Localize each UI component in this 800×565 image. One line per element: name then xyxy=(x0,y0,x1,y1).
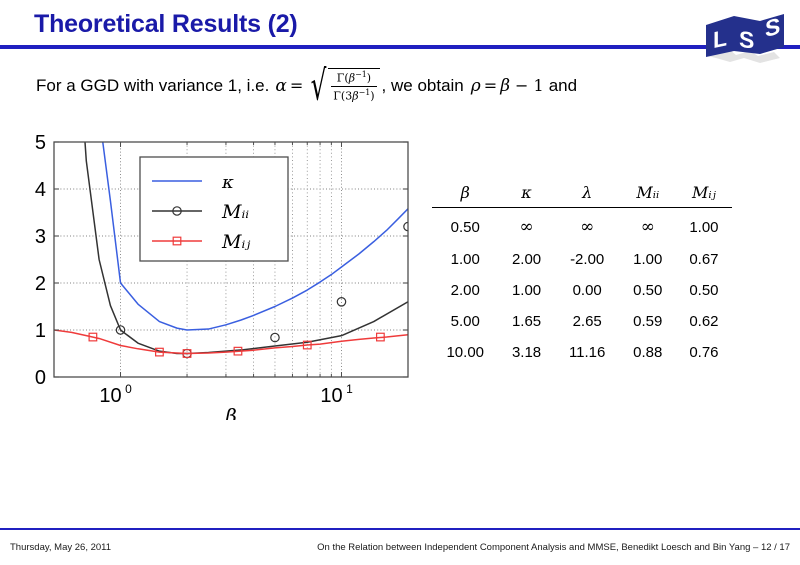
svg-text:L: L xyxy=(713,24,727,53)
table-cell: -2.00 xyxy=(555,244,620,275)
table-cell: ∞ xyxy=(620,208,676,245)
footer-divider xyxy=(0,528,800,530)
table-header-mii: Mᵢᵢ xyxy=(620,182,676,208)
table-cell: 0.50 xyxy=(620,275,676,306)
title-divider xyxy=(0,45,800,49)
x-tick-label: 100 xyxy=(99,382,132,407)
svg-text:1: 1 xyxy=(346,382,353,396)
y-tick-label: 1 xyxy=(35,320,46,342)
page-title: Theoretical Results (2) xyxy=(34,10,298,39)
table-cell: 0.88 xyxy=(620,337,676,368)
gamma-fraction: Γ(β−1) Γ(3β−1) xyxy=(331,70,376,104)
table-cell: ∞ xyxy=(498,208,554,245)
sqrt-expression: √ Γ(β−1) Γ(3β−1) xyxy=(308,68,379,104)
numerator-close-paren: ) xyxy=(367,72,371,85)
x-tick-label: 101 xyxy=(320,382,353,407)
table-cell: 0.00 xyxy=(555,275,620,306)
table-cell: 0.76 xyxy=(676,337,732,368)
series-M_ij xyxy=(54,330,408,357)
svg-text:10: 10 xyxy=(320,385,342,407)
table-cell: 1.00 xyxy=(620,244,676,275)
table-header-kappa: κ xyxy=(498,182,554,208)
series-line xyxy=(54,330,408,354)
svg-text:S: S xyxy=(765,13,780,42)
chart-legend: κMᵢᵢMᵢⱼ xyxy=(140,157,288,261)
sqrt-radical-icon: √ xyxy=(311,68,327,103)
sqrt-radicand: Γ(β−1) Γ(3β−1) xyxy=(328,68,379,104)
chart-y-tick-labels: 012345 xyxy=(35,132,46,389)
legend-label: κ xyxy=(221,172,234,193)
table-cell: 0.67 xyxy=(676,244,732,275)
svg-text:0: 0 xyxy=(125,382,132,396)
table-row: 2.001.000.000.500.50 xyxy=(432,275,732,306)
table-cell: 2.00 xyxy=(432,275,498,306)
table-cell: 10.00 xyxy=(432,337,498,368)
table-cell: 2.65 xyxy=(555,306,620,337)
sentence-part-2: , we obtain xyxy=(382,76,464,96)
table-cell: 11.16 xyxy=(555,337,620,368)
results-chart: 012345 100101 β κMᵢᵢMᵢⱼ xyxy=(20,130,420,420)
svg-text:S: S xyxy=(739,26,754,54)
table-row: 5.001.652.650.590.62 xyxy=(432,306,732,337)
table-row: 10.003.1811.160.880.76 xyxy=(432,337,732,368)
beta-symbol: β xyxy=(500,76,510,96)
x-axis-title-text: β xyxy=(224,404,237,420)
lss-logo: L S S xyxy=(700,8,790,70)
table-cell: 1.65 xyxy=(498,306,554,337)
legend-box xyxy=(140,157,288,261)
svg-text:10: 10 xyxy=(99,385,121,407)
table-cell: 1.00 xyxy=(498,275,554,306)
table-header-row: β κ λ Mᵢᵢ Mᵢⱼ xyxy=(432,182,732,208)
table-row: 1.002.00-2.001.000.67 xyxy=(432,244,732,275)
y-tick-label: 5 xyxy=(35,132,46,154)
alpha-symbol: α xyxy=(269,76,286,96)
table-cell: 5.00 xyxy=(432,306,498,337)
table-cell: 0.62 xyxy=(676,306,732,337)
table-header-mij: Mᵢⱼ xyxy=(676,182,732,208)
chart-x-axis-title: β xyxy=(224,404,237,420)
table-cell: 1.00 xyxy=(676,208,732,245)
legend-label: Mᵢᵢ xyxy=(221,201,249,223)
table-row: 0.50∞∞∞1.00 xyxy=(432,208,732,245)
equals-sign-1: = xyxy=(287,76,306,95)
sentence-part-1: For a GGD with variance 1, i.e. xyxy=(36,76,269,96)
rho-symbol: ρ xyxy=(464,76,481,96)
table-cell: 1.00 xyxy=(432,244,498,275)
footer-reference: On the Relation between Independent Comp… xyxy=(317,542,790,553)
table-body: 0.50∞∞∞1.001.002.00-2.001.000.672.001.00… xyxy=(432,208,732,369)
y-tick-label: 2 xyxy=(35,273,46,295)
table-cell: 0.50 xyxy=(432,208,498,245)
results-table: β κ λ Mᵢᵢ Mᵢⱼ 0.50∞∞∞1.001.002.00-2.001.… xyxy=(432,182,732,368)
table-cell: 3.18 xyxy=(498,337,554,368)
y-tick-label: 3 xyxy=(35,226,46,248)
legend-label: Mᵢⱼ xyxy=(221,231,250,253)
table-header-beta: β xyxy=(432,182,498,208)
fraction-denominator: Γ(3β−1) xyxy=(331,86,376,103)
y-tick-label: 4 xyxy=(35,179,46,201)
denominator-close-paren: ) xyxy=(370,90,374,103)
table-header-lambda: λ xyxy=(555,182,620,208)
numerator-gamma: Γ( xyxy=(337,72,349,85)
minus-one: − 1 xyxy=(510,76,549,95)
table-cell: 0.59 xyxy=(620,306,676,337)
sentence-part-3: and xyxy=(549,76,577,96)
table-cell: ∞ xyxy=(555,208,620,245)
denominator-gamma: Γ(3 xyxy=(333,90,352,103)
y-tick-label: 0 xyxy=(35,367,46,389)
table-cell: 0.50 xyxy=(676,275,732,306)
footer-date: Thursday, May 26, 2011 xyxy=(10,542,111,553)
equals-sign-2: = xyxy=(481,76,500,95)
fraction-numerator: Γ(β−1) xyxy=(335,70,373,86)
numerator-exponent: −1 xyxy=(355,70,367,79)
denominator-exponent: −1 xyxy=(359,88,371,97)
body-sentence: For a GGD with variance 1, i.e. α = √ Γ(… xyxy=(36,68,577,104)
table-cell: 2.00 xyxy=(498,244,554,275)
